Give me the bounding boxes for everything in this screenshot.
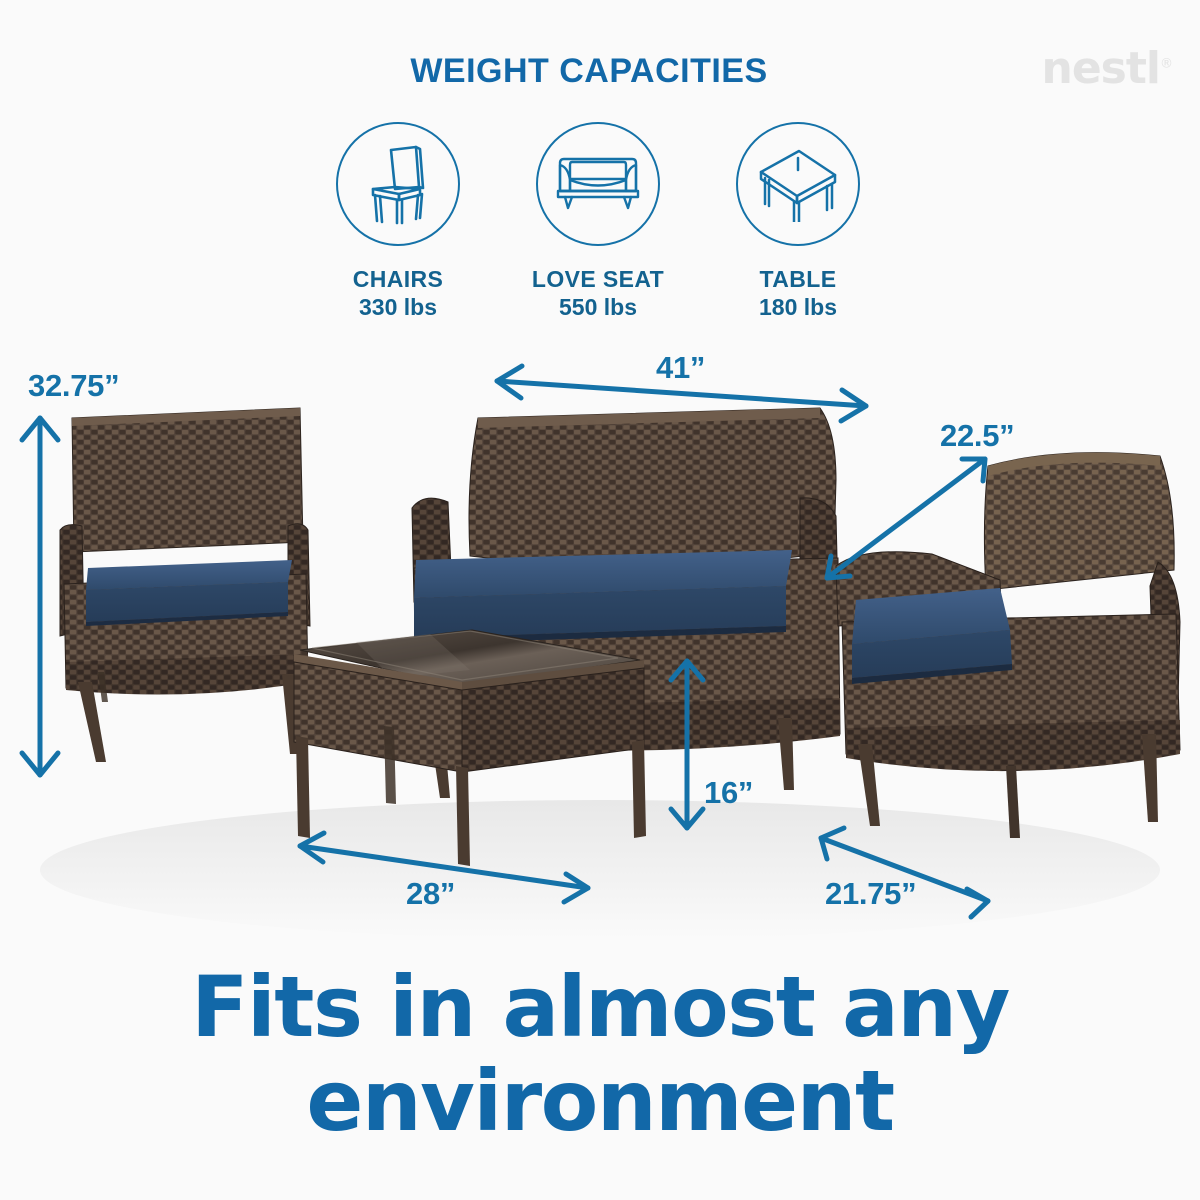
- headline: Fits in almost any environment: [0, 960, 1200, 1148]
- left-chair: [60, 408, 310, 762]
- right-chair: [836, 453, 1180, 838]
- chair-icon: [359, 143, 437, 225]
- dimension-label-chair-height: 32.75”: [28, 368, 119, 404]
- loveseat-icon: [552, 153, 644, 215]
- headline-line-2: environment: [0, 1054, 1200, 1148]
- dimension-label-loveseat-depth: 22.5”: [940, 418, 1014, 454]
- dimension-label-loveseat-width: 41”: [656, 350, 705, 386]
- furniture-product-photo: [0, 330, 1200, 950]
- weight-capacities-title-text: WEIGHT CAPACITIES: [410, 52, 767, 91]
- dimension-label-chair-depth: 21.75”: [825, 876, 916, 912]
- weight-capacities-row: CHAIRS 330 lbs: [318, 122, 878, 321]
- capacity-icon-circle-table: [736, 122, 860, 246]
- capacity-icon-circle-chairs: [336, 122, 460, 246]
- capacity-item-table: TABLE 180 lbs: [718, 122, 878, 321]
- floor-shadow: [40, 800, 1160, 940]
- table-icon: [755, 146, 841, 222]
- capacity-item-chairs: CHAIRS 330 lbs: [318, 122, 478, 321]
- capacity-item-love-seat: LOVE SEAT 550 lbs: [518, 122, 678, 321]
- capacity-label-love-seat: LOVE SEAT: [532, 265, 664, 294]
- headline-line-1: Fits in almost any: [0, 960, 1200, 1054]
- capacity-value-table: 180 lbs: [759, 294, 837, 321]
- infographic-canvas: nestl® WEIGHT CAPACITIES: [0, 0, 1200, 1200]
- capacity-label-chairs: CHAIRS: [353, 265, 444, 294]
- dimension-label-table-width: 28”: [406, 876, 455, 912]
- capacity-value-love-seat: 550 lbs: [559, 294, 637, 321]
- capacity-value-chairs: 330 lbs: [359, 294, 437, 321]
- capacity-icon-circle-love-seat: [536, 122, 660, 246]
- weight-capacities-title: WEIGHT CAPACITIES: [0, 52, 1200, 91]
- dimension-label-table-height: 16”: [704, 775, 753, 811]
- capacity-label-table: TABLE: [760, 265, 837, 294]
